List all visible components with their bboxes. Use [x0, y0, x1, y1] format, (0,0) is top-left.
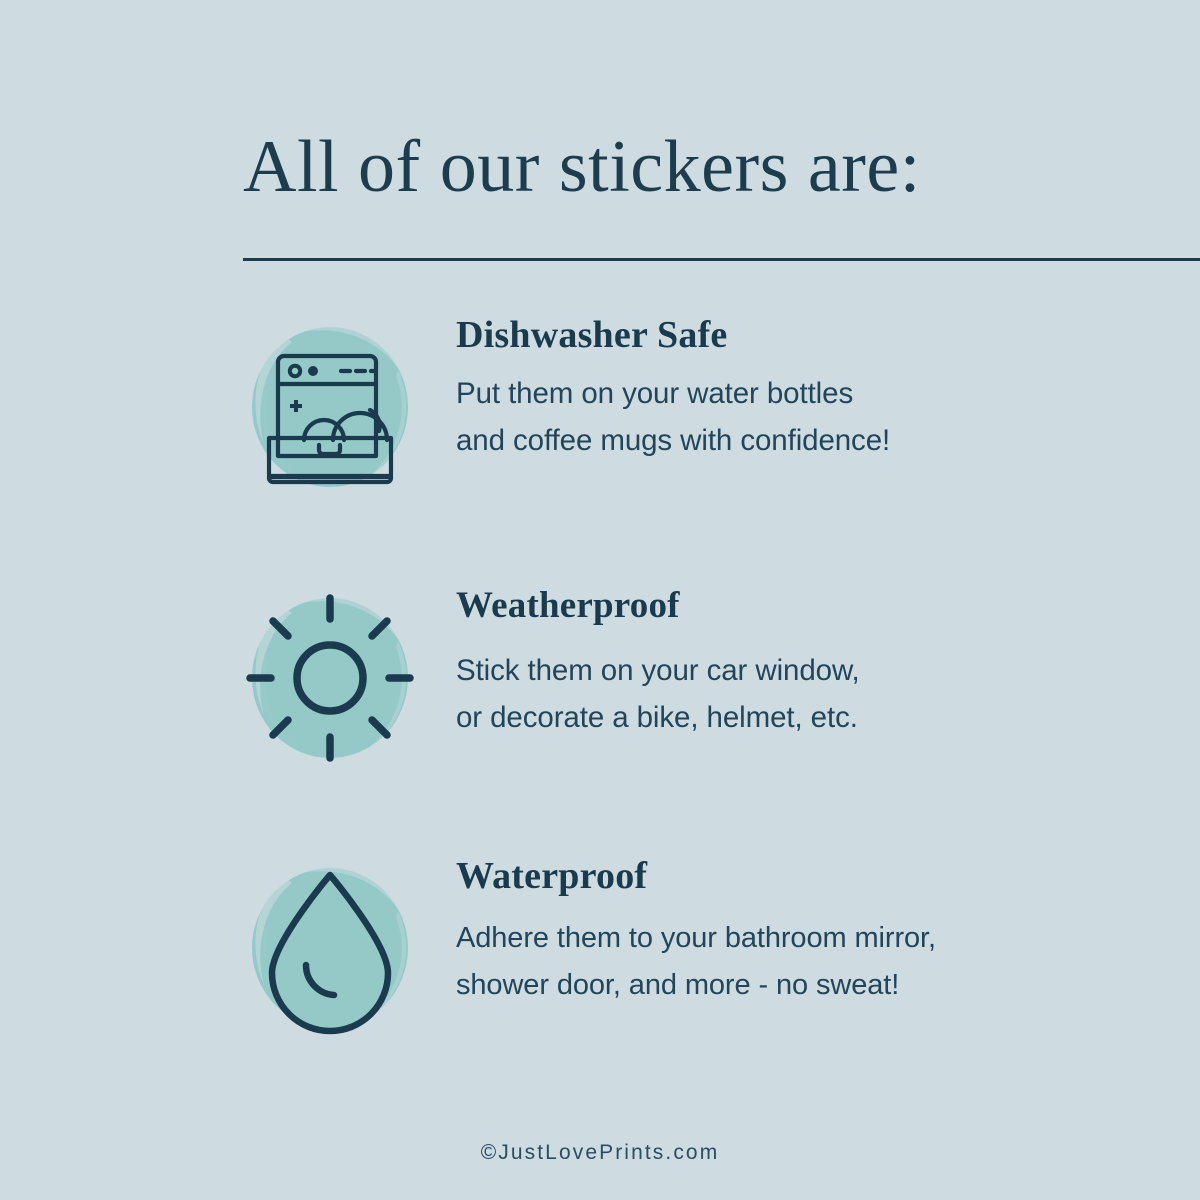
feature-text: Weatherproof Stick them on your car wind… — [456, 583, 1140, 741]
title-divider — [243, 258, 1200, 261]
feature-body: Adhere them to your bathroom mirror, sho… — [456, 915, 1140, 1009]
feature-text: Waterproof Adhere them to your bathroom … — [456, 853, 1140, 1009]
sun-icon — [240, 583, 420, 773]
feature-body-line: Adhere them to your bathroom mirror, — [456, 915, 1140, 962]
feature-body: Stick them on your car window, or decora… — [456, 647, 1140, 741]
feature-heading: Waterproof — [456, 853, 1140, 899]
page-title: All of our stickers are: — [243, 122, 963, 212]
sun-icon-badge — [240, 583, 420, 773]
feature-heading: Weatherproof — [456, 583, 1140, 629]
water-drop-icon — [240, 853, 420, 1043]
feature-body-line: shower door, and more - no sweat! — [456, 962, 1140, 1009]
feature-body-line: and coffee mugs with confidence! — [456, 417, 1140, 464]
feature-heading: Dishwasher Safe — [456, 312, 1140, 358]
footer-credit: ©JustLovePrints.com — [0, 1141, 1200, 1165]
feature-body: Put them on your water bottles and coffe… — [456, 370, 1140, 464]
feature-row: Dishwasher Safe Put them on your water b… — [240, 312, 1140, 512]
feature-row: Waterproof Adhere them to your bathroom … — [240, 853, 1140, 1053]
feature-body-line: Stick them on your car window, — [456, 647, 1140, 694]
dishwasher-icon — [240, 312, 420, 502]
water-drop-icon-badge — [240, 853, 420, 1043]
feature-body-line: Put them on your water bottles — [456, 370, 1140, 417]
feature-body-line: or decorate a bike, helmet, etc. — [456, 694, 1140, 741]
feature-text: Dishwasher Safe Put them on your water b… — [456, 312, 1140, 464]
dishwasher-icon-badge — [240, 312, 420, 502]
infographic-page: All of our stickers are: — [0, 0, 1200, 1200]
feature-row: Weatherproof Stick them on your car wind… — [240, 583, 1140, 783]
